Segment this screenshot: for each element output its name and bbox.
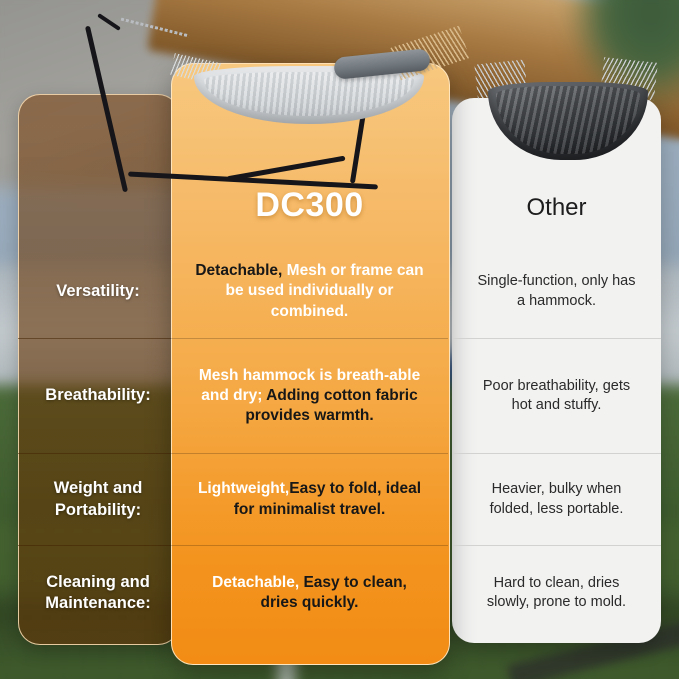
other-row: Poor breathability, gets hot and stuffy. [452,338,661,453]
dc300-cleaning-highlight: Detachable, [212,574,299,591]
dc300-weight-text: Lightweight,Easy to fold, ideal for mini… [181,479,438,519]
other-breathability-text: Poor breathability, gets hot and stuffy. [462,377,651,416]
feature-label-weight-portability: Weight and Portability: [28,478,168,520]
other-row: Hard to clean, dries slowly, prone to mo… [452,545,661,640]
dc300-row: Detachable, Easy to clean, dries quickly… [171,545,448,640]
other-cleaning-text: Hard to clean, dries slowly, prone to mo… [462,574,651,613]
product-title: DC300 [171,186,448,225]
competitor-title: Other [452,194,661,222]
feature-label-row: Cleaning and Maintenance: [18,545,178,640]
feature-label-versatility: Versatility: [56,281,139,302]
dc300-breathability-rest: Adding cotton fabric provides warmth. [245,387,417,424]
dc300-row: Mesh hammock is breath-able and dry; Add… [171,338,448,453]
other-weight-text: Heavier, bulky when folded, less portabl… [462,480,651,519]
dc300-versatility-highlight: Detachable, [195,262,282,279]
feature-label-row: Versatility: [18,245,178,338]
feature-label-row: Breathability: [18,338,178,453]
feature-labels-column: Versatility: Breathability: Weight and P… [18,245,178,640]
dc300-column: Detachable, Mesh or frame can be used in… [171,245,448,640]
dc300-row: Lightweight,Easy to fold, ideal for mini… [171,453,448,545]
feature-label-cleaning-maintenance: Cleaning and Maintenance: [28,572,168,614]
feature-label-row: Weight and Portability: [18,453,178,545]
comparison-infographic: DC300 Other Versatility: Breathability: … [0,0,679,679]
feature-label-breathability: Breathability: [45,385,150,406]
dc300-versatility-text: Detachable, Mesh or frame can be used in… [181,261,438,321]
other-row: Single-function, only has a hammock. [452,245,661,338]
other-row: Heavier, bulky when folded, less portabl… [452,453,661,545]
other-versatility-text: Single-function, only has a hammock. [462,272,651,311]
dc300-weight-highlight: Lightweight, [198,480,289,497]
dc300-breathability-text: Mesh hammock is breath-able and dry; Add… [181,366,438,426]
other-column: Single-function, only has a hammock. Poo… [452,245,661,640]
dc300-row: Detachable, Mesh or frame can be used in… [171,245,448,338]
dc300-cleaning-text: Detachable, Easy to clean, dries quickly… [181,573,438,613]
